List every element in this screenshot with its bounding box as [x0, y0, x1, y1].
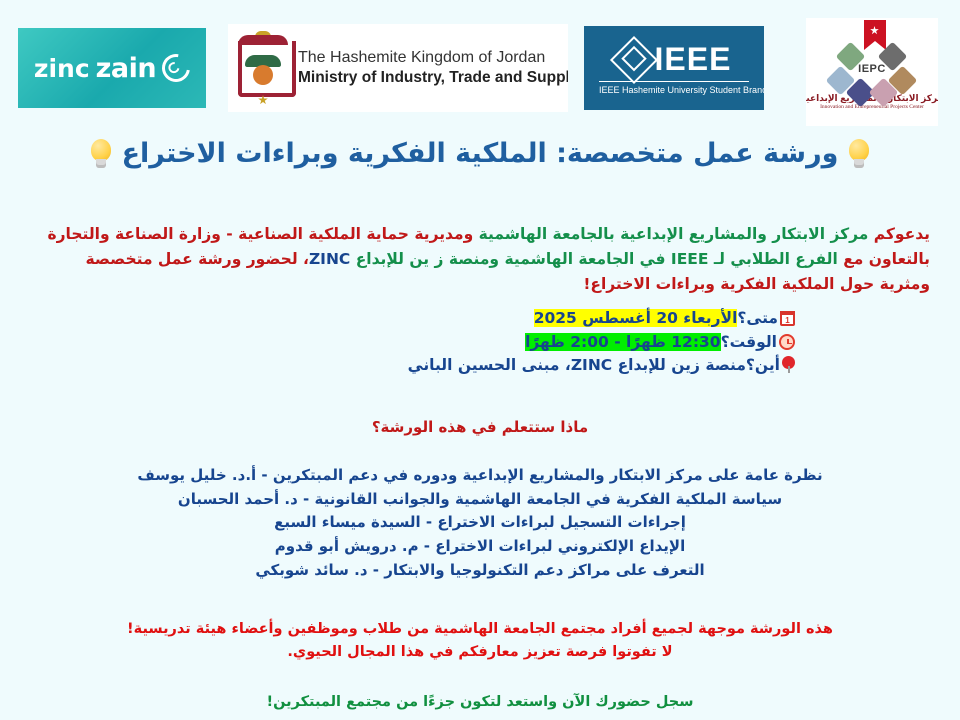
agenda-item-2: سياسة الملكية الفكرية في الجامعة الهاشمي… [0, 488, 960, 512]
ministry-line-1: The Hashemite Kingdom of Jordan [298, 48, 568, 68]
light-bulb-icon-left [91, 139, 111, 169]
calendar-icon [780, 311, 795, 326]
detail-time-value: 12:30 ظهرًا - 2:00 ظهرًا [525, 333, 721, 351]
iepc-cubes-icon: IEPC [826, 20, 918, 92]
detail-time-label: الوقت؟ [721, 333, 777, 351]
location-pin-icon [782, 356, 795, 373]
intro-paragraph: يدعوكم مركز الابتكار والمشاريع الإبداعية… [30, 222, 930, 297]
iepc-label: IEPC [858, 63, 886, 75]
intro-seg-1: يدعوكم [868, 225, 930, 243]
closing-red-line-1: هذه الورشة موجهة لجميع أفراد مجتمع الجام… [0, 618, 960, 641]
closing-call-to-action: سجل حضورك الآن واستعد لتكون جزءًا من مجت… [0, 694, 960, 710]
page-title: ورشة عمل متخصصة: الملكية الفكرية وبراءات… [122, 138, 839, 169]
iepc-english-name: Innovation and Entrepreneurial Projects … [820, 104, 924, 110]
intro-seg-2: مركز الابتكار والمشاريع الإبداعية بالجام… [473, 225, 868, 243]
intro-seg-5: في الجامعة الهاشمية ومنصة ز ين للإبداع [350, 250, 665, 268]
logo-zain-zinc: zain zinc [18, 28, 206, 108]
detail-when-label: متى؟ [737, 309, 778, 327]
detail-where: أين؟منصة زين للإبداع ZINC، مبنى الحسين ا… [408, 354, 795, 378]
ieee-wordmark: IEEE [655, 41, 732, 78]
intro-seg-4: الفرع الطلابي لـ IEEE [666, 250, 838, 268]
event-details: متى؟الأربعاء 20 أغسطس 2025 الوقت؟12:30 ظ… [408, 307, 795, 378]
alarm-clock-icon [779, 334, 795, 350]
poster-title: ورشة عمل متخصصة: الملكية الفكرية وبراءات… [0, 138, 960, 169]
jordan-coat-of-arms-icon [234, 29, 292, 107]
detail-time: الوقت؟12:30 ظهرًا - 2:00 ظهرًا [408, 331, 795, 355]
zain-wordmark: zain [96, 53, 156, 84]
logo-ieee-student-branch: IEEE IEEE Hashemite University Student B… [584, 26, 764, 110]
ieee-branch-label: IEEE Hashemite University Student Branch [599, 81, 749, 95]
ieee-diamond-icon [609, 35, 657, 83]
agenda-item-1: نظرة عامة على مركز الابتكار والمشاريع ال… [0, 464, 960, 488]
learn-heading: ماذا ستتعلم في هذه الورشة؟ [0, 418, 960, 436]
agenda-item-3: إجراءات التسجيل لبراءات الاختراع - السيد… [0, 511, 960, 535]
closing-audience-note: هذه الورشة موجهة لجميع أفراد مجتمع الجام… [0, 618, 960, 664]
zain-swirl-icon [157, 49, 196, 88]
light-bulb-icon-right [849, 139, 869, 169]
ministry-line-2: Ministry of Industry, Trade and Supply [298, 68, 568, 87]
agenda-item-5: التعرف على مراكز دعم التكنولوجيا والابتك… [0, 559, 960, 583]
partner-logos-strip: zain zinc The Hashemite Kingdom of Jorda… [0, 18, 960, 118]
detail-when: متى؟الأربعاء 20 أغسطس 2025 [408, 307, 795, 331]
detail-where-label: أين؟ [746, 356, 780, 374]
agenda-item-4: الإيداع الإلكتروني لبراءات الاختراع - م.… [0, 535, 960, 559]
logo-iepc: IEPC مركز الابتكار والمشاريع الإبداعية I… [806, 18, 938, 126]
detail-where-value: منصة زين للإبداع ZINC، مبنى الحسين البان… [408, 356, 746, 374]
logo-ministry-of-industry: The Hashemite Kingdom of Jordan Ministry… [228, 24, 568, 112]
closing-red-line-2: لا تفوتوا فرصة تعزيز معارفكم في هذا المج… [0, 641, 960, 664]
zinc-wordmark: zinc [34, 54, 90, 83]
agenda-list: نظرة عامة على مركز الابتكار والمشاريع ال… [0, 464, 960, 582]
intro-seg-6: ZINC [309, 250, 350, 268]
detail-when-value: الأربعاء 20 أغسطس 2025 [534, 309, 738, 327]
